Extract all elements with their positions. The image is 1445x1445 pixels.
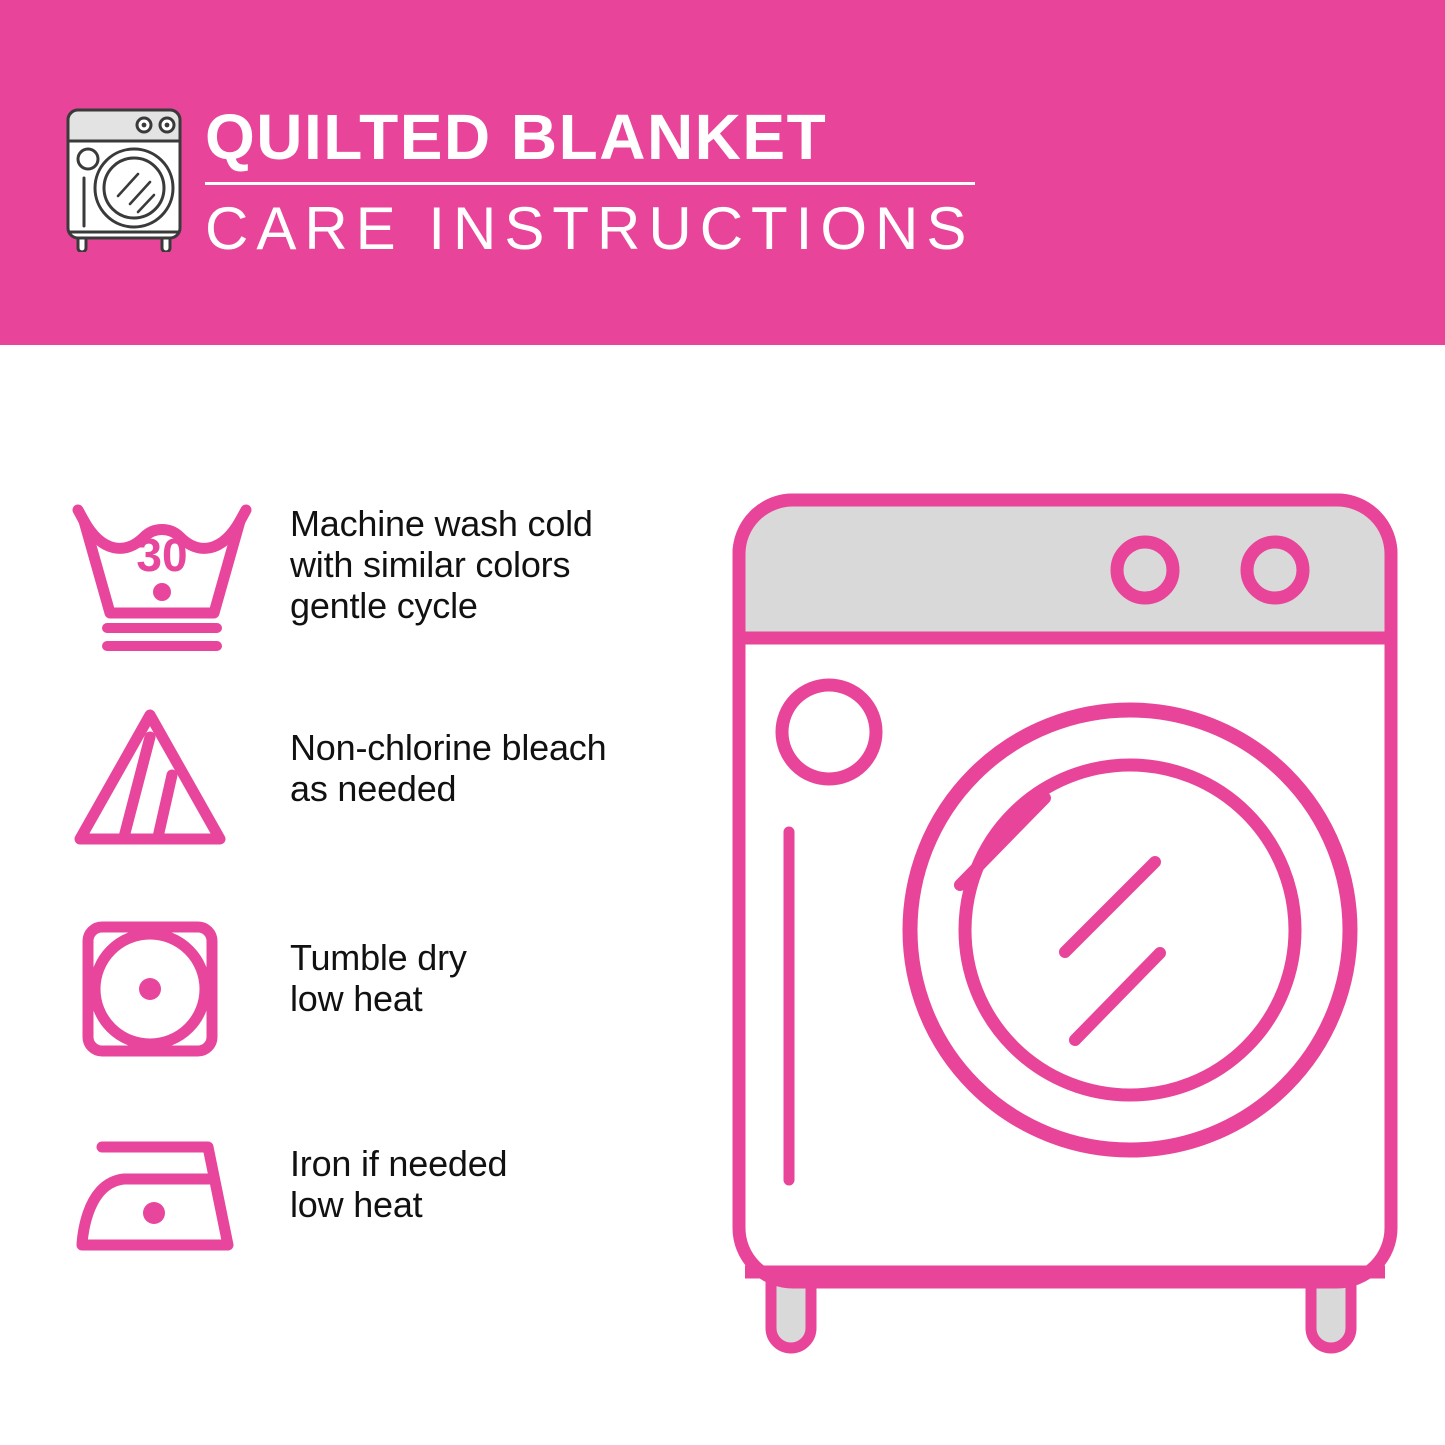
care-text-wash: Machine wash cold with similar colors ge… — [290, 503, 690, 626]
care-text-line: low heat — [290, 1184, 690, 1225]
care-row-tumble-dry: Tumble dry low heat — [62, 909, 702, 1121]
care-text-bleach: Non-chlorine bleach as needed — [290, 727, 690, 809]
care-text-line: gentle cycle — [290, 585, 690, 626]
header-title-group: QUILTED BLANKET CARE INSTRUCTIONS — [205, 100, 995, 260]
care-instruction-list: 30 Machine wash cold with similar colors… — [62, 485, 702, 1333]
care-text-tumble-dry: Tumble dry low heat — [290, 937, 690, 1019]
care-text-iron: Iron if needed low heat — [290, 1143, 690, 1225]
care-text-line: Machine wash cold — [290, 503, 690, 544]
bleach-triangle-icon — [62, 697, 262, 867]
title-divider — [205, 182, 975, 185]
care-text-line: Iron if needed — [290, 1143, 690, 1184]
care-text-line: with similar colors — [290, 544, 690, 585]
washing-machine-icon — [62, 100, 192, 252]
care-text-line: Non-chlorine bleach — [290, 727, 690, 768]
care-row-wash: 30 Machine wash cold with similar colors… — [62, 485, 702, 697]
iron-icon — [62, 1121, 262, 1291]
wash-tub-30-icon: 30 — [62, 485, 262, 655]
wash-temperature-label: 30 — [136, 529, 187, 581]
care-row-iron: Iron if needed low heat — [62, 1121, 702, 1333]
care-text-line: Tumble dry — [290, 937, 690, 978]
care-text-line: as needed — [290, 768, 690, 809]
header-banner: QUILTED BLANKET CARE INSTRUCTIONS — [0, 0, 1445, 345]
tumble-dry-icon — [62, 909, 262, 1079]
care-instructions-page: QUILTED BLANKET CARE INSTRUCTIONS 30 — [0, 0, 1445, 1445]
washing-machine-illustration — [715, 480, 1415, 1360]
page-subtitle: CARE INSTRUCTIONS — [205, 195, 995, 263]
care-text-line: low heat — [290, 978, 690, 1019]
care-row-bleach: Non-chlorine bleach as needed — [62, 697, 702, 909]
page-title: QUILTED BLANKET — [205, 100, 995, 174]
